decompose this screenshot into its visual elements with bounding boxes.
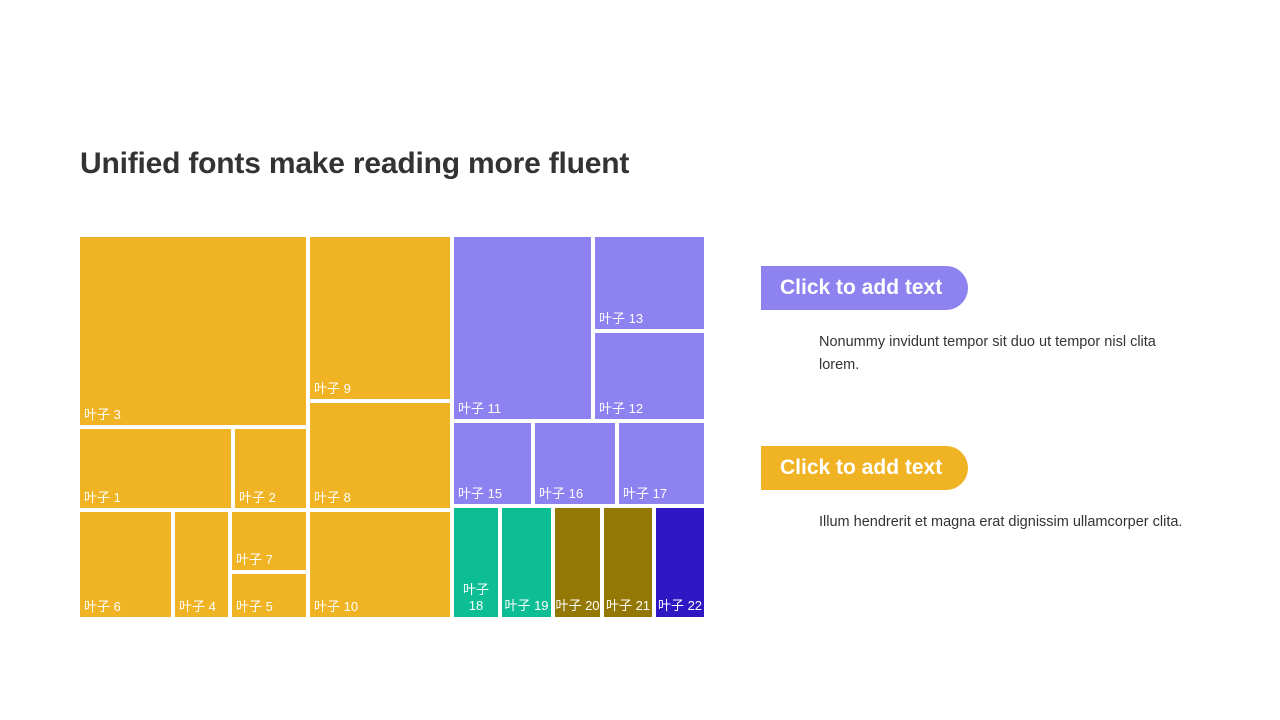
treemap-tile-label: 叶子 8 (314, 490, 351, 505)
treemap-tile-l10[interactable]: 叶子 10 (308, 510, 452, 619)
treemap-tile-l11[interactable]: 叶子 11 (452, 235, 593, 421)
content-block-2: Click to add text Illum hendrerit et mag… (761, 446, 1201, 534)
treemap-tile-label: 叶子 11 (458, 401, 501, 416)
treemap-tile-l3[interactable]: 叶子 3 (78, 235, 308, 427)
treemap-tile-l18[interactable]: 叶子 18 (452, 506, 500, 619)
treemap-tile-label: 叶子 10 (314, 599, 358, 614)
treemap-tile-l7[interactable]: 叶子 7 (230, 510, 308, 572)
treemap-tile-label: 叶子 7 (236, 552, 273, 567)
treemap-tile-label: 叶子 15 (458, 486, 502, 501)
treemap-tile-label: 叶子 3 (84, 407, 121, 422)
treemap-tile-l6[interactable]: 叶子 6 (78, 510, 173, 619)
treemap-tile-l20[interactable]: 叶子 20 (553, 506, 602, 619)
treemap-tile-l4[interactable]: 叶子 4 (173, 510, 230, 619)
treemap-tile-label: 叶子 6 (84, 599, 121, 614)
treemap-tile-label: 叶子 21 (604, 598, 652, 614)
treemap-tile-l22[interactable]: 叶子 22 (654, 506, 706, 619)
treemap-tile-label: 叶子 20 (555, 598, 600, 614)
treemap-chart: 分支 1叶子 3叶子 9叶子 8叶子 1叶子 2叶子 6叶子 4叶子 7叶子 5… (78, 235, 706, 619)
add-text-button-1[interactable]: Click to add text (761, 266, 968, 310)
treemap-tile-l1[interactable]: 叶子 1 (78, 427, 233, 510)
page-title: Unified fonts make reading more fluent (80, 144, 980, 184)
treemap-tile-l21[interactable]: 叶子 21 (602, 506, 654, 619)
treemap-tile-label: 叶子 13 (599, 311, 643, 326)
treemap-tile-l2[interactable]: 叶子 2 (233, 427, 308, 510)
add-text-button-2[interactable]: Click to add text (761, 446, 968, 490)
treemap-tile-l15[interactable]: 叶子 15 (452, 421, 533, 506)
body-paragraph-2: Illum hendrerit et magna erat dignissim … (819, 511, 1197, 534)
treemap-tile-l17[interactable]: 叶子 17 (617, 421, 706, 506)
treemap-tile-l19[interactable]: 叶子 19 (500, 506, 553, 619)
treemap-tile-label: 叶子 19 (502, 598, 551, 614)
treemap-tile-label: 叶子 16 (539, 486, 583, 501)
treemap-tile-l16[interactable]: 叶子 16 (533, 421, 617, 506)
treemap-tile-label: 叶子 22 (656, 598, 704, 614)
treemap-tile-l8[interactable]: 叶子 8 (308, 401, 452, 510)
treemap-tile-l5[interactable]: 叶子 5 (230, 572, 308, 619)
treemap-tile-label: 叶子 5 (236, 599, 273, 614)
treemap-tile-label: 叶子 17 (623, 486, 667, 501)
treemap-tile-label: 叶子 4 (179, 599, 216, 614)
treemap-tile-label: 叶子 18 (454, 582, 498, 614)
content-block-1: Click to add text Nonummy invidunt tempo… (761, 266, 1201, 377)
treemap-tile-label: 叶子 9 (314, 381, 351, 396)
treemap-tile-l13[interactable]: 叶子 13 (593, 235, 706, 331)
treemap-tile-label: 叶子 12 (599, 401, 643, 416)
treemap-tile-label: 叶子 1 (84, 490, 121, 505)
treemap-tile-l12[interactable]: 叶子 12 (593, 331, 706, 421)
treemap-tile-label: 叶子 2 (239, 490, 276, 505)
body-paragraph-1: Nonummy invidunt tempor sit duo ut tempo… (819, 331, 1197, 377)
treemap-tile-l9[interactable]: 叶子 9 (308, 235, 452, 401)
